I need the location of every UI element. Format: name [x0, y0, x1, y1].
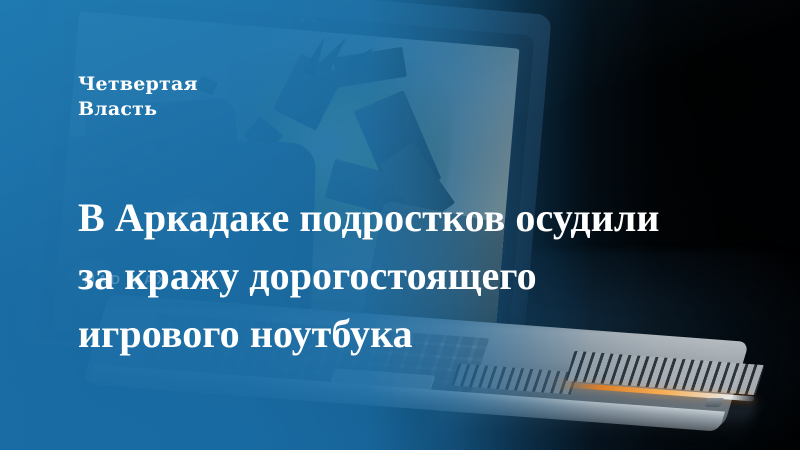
article-cover-image: MAD MAX Четвертая Власть В Аркадаке подр… — [0, 0, 800, 450]
site-logo: Четвертая Власть — [78, 72, 198, 122]
article-headline: В Аркадаке подростков осудили за кражу д… — [78, 189, 688, 363]
